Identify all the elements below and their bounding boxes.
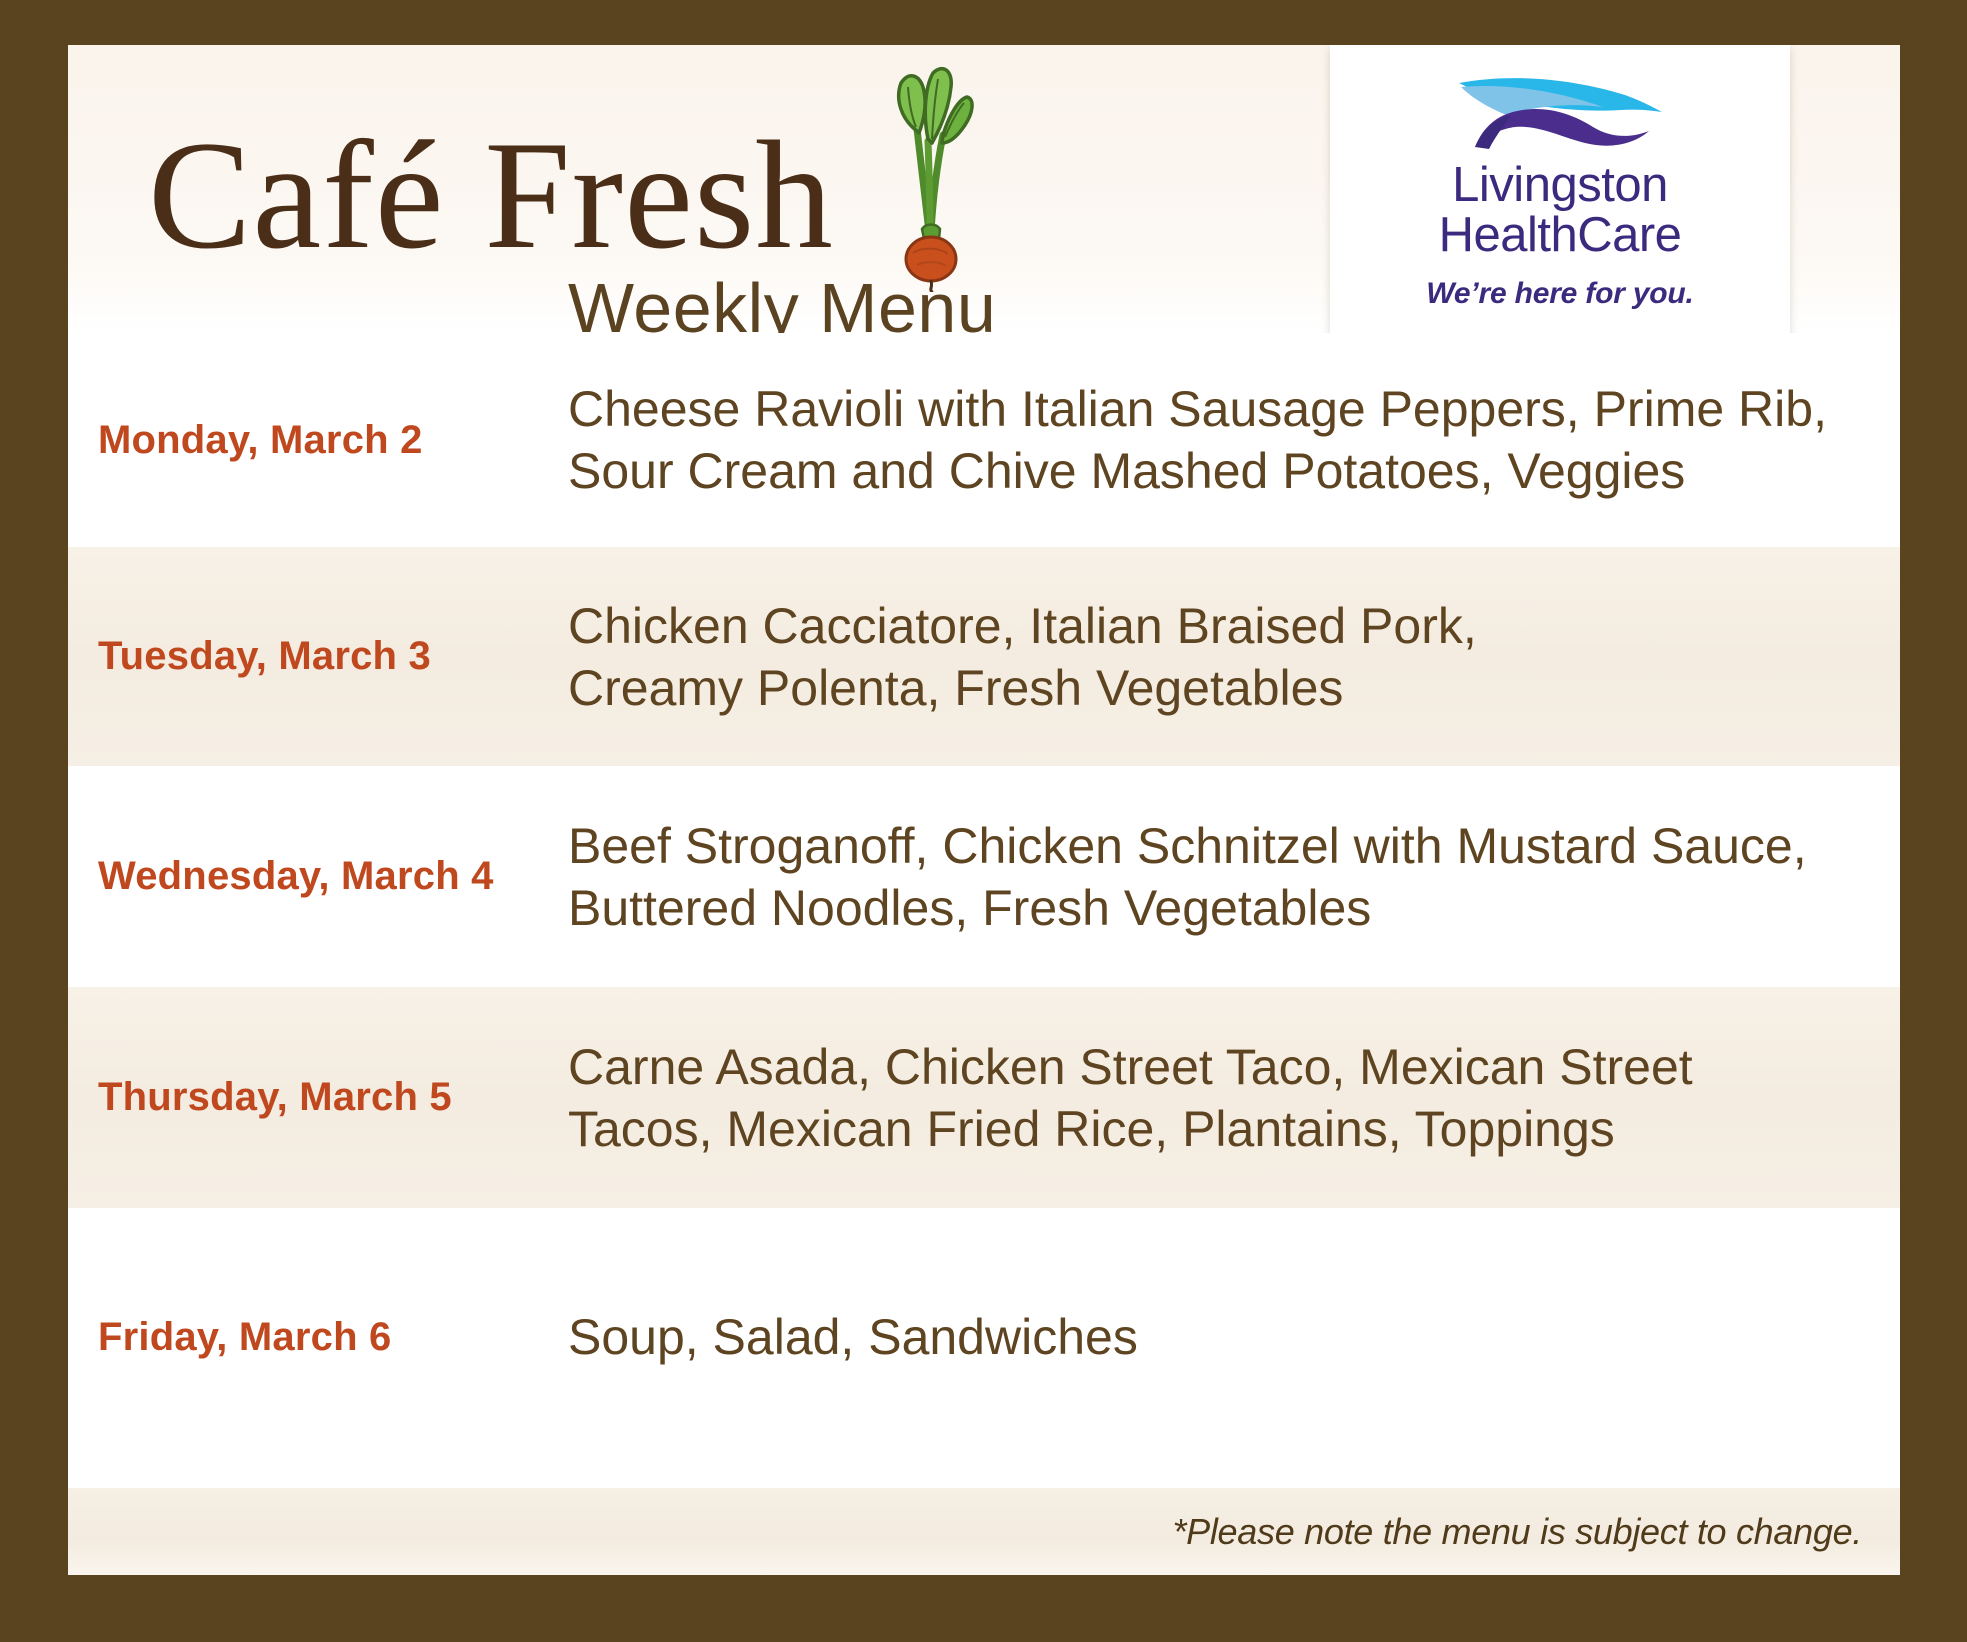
row-items: Soup, Salad, Sandwiches	[568, 1306, 1900, 1368]
row-item-line: Cheese Ravioli with Italian Sausage Pepp…	[568, 378, 1870, 440]
row-items: Chicken Cacciatore, Italian Braised Pork…	[568, 595, 1900, 719]
row-item-line: Creamy Polenta, Fresh Vegetables	[568, 657, 1870, 719]
title-row: Café Fresh	[148, 95, 988, 270]
row-items: Carne Asada, Chicken Street Taco, Mexica…	[568, 1036, 1900, 1160]
table-row: Thursday, March 5 Carne Asada, Chicken S…	[68, 987, 1900, 1208]
row-item-line: Chicken Cacciatore, Italian Braised Pork…	[568, 595, 1870, 657]
row-day-label: Wednesday, March 4	[68, 854, 568, 899]
table-row: Friday, March 6 Soup, Salad, Sandwiches	[68, 1208, 1900, 1466]
logo-line-2: HealthCare	[1330, 209, 1790, 261]
livingston-flag-icon	[1453, 69, 1668, 153]
row-items: Cheese Ravioli with Italian Sausage Pepp…	[568, 378, 1900, 502]
row-items: Beef Stroganoff, Chicken Schnitzel with …	[568, 815, 1900, 939]
table-row: Wednesday, March 4 Beef Stroganoff, Chic…	[68, 766, 1900, 987]
row-day-label: Friday, March 6	[68, 1315, 568, 1360]
row-day-label: Monday, March 2	[68, 418, 568, 463]
row-item-line: Carne Asada, Chicken Street Taco, Mexica…	[568, 1036, 1870, 1098]
menu-page: Café Fresh	[68, 45, 1900, 1575]
row-item-line: Beef Stroganoff, Chicken Schnitzel with …	[568, 815, 1870, 877]
row-item-line: Tacos, Mexican Fried Rice, Plantains, To…	[568, 1098, 1870, 1160]
livingston-healthcare-logo-card: Livingston HealthCare We’re here for you…	[1330, 45, 1790, 370]
row-item-line: Buttered Noodles, Fresh Vegetables	[568, 877, 1870, 939]
logo-line-1: Livingston	[1330, 159, 1790, 211]
table-row: Monday, March 2 Cheese Ravioli with Ital…	[68, 333, 1900, 547]
row-item-line: Soup, Salad, Sandwiches	[568, 1306, 1870, 1368]
title-block: Café Fresh	[148, 95, 988, 270]
row-day-label: Thursday, March 5	[68, 1075, 568, 1120]
row-day-label: Tuesday, March 3	[68, 634, 568, 679]
row-item-line: Sour Cream and Chive Mashed Potatoes, Ve…	[568, 440, 1870, 502]
beet-icon	[883, 57, 975, 292]
menu-rows: Monday, March 2 Cheese Ravioli with Ital…	[68, 333, 1900, 1466]
header-band: Café Fresh	[68, 45, 1900, 333]
footer-band: *Please note the menu is subject to chan…	[68, 1488, 1900, 1575]
menu-poster: Café Fresh	[0, 0, 1967, 1642]
table-row: Tuesday, March 3 Chicken Cacciatore, Ita…	[68, 547, 1900, 766]
logo-tagline: We’re here for you.	[1330, 277, 1790, 311]
page-title: Café Fresh	[148, 120, 834, 270]
footer-note: *Please note the menu is subject to chan…	[1172, 1511, 1900, 1553]
